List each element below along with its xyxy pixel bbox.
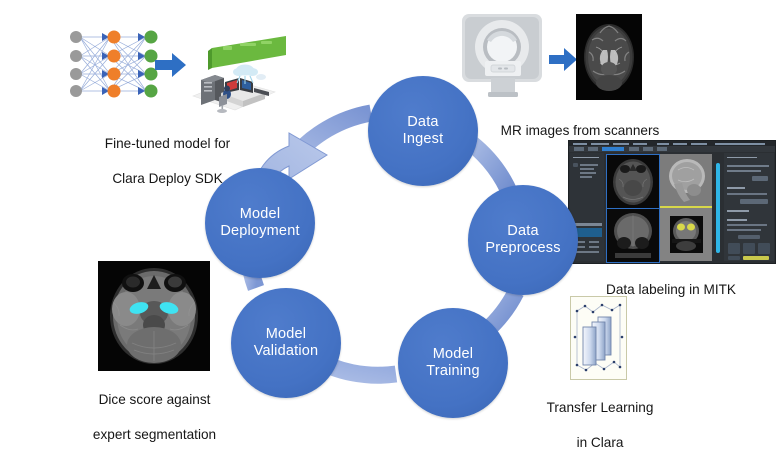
brain-slice-icon-mr bbox=[576, 14, 642, 100]
caption-line2: in Clara bbox=[577, 435, 624, 450]
neural-network-svg bbox=[66, 28, 166, 100]
cycle-node-data-ingest[interactable]: Data Ingest bbox=[368, 76, 478, 186]
cycle-node-label-line1: Data bbox=[507, 223, 538, 239]
stacked-layers-icon bbox=[570, 296, 627, 380]
cycle-node-label-line1: Data bbox=[407, 114, 438, 130]
mitk-viewport-3d[interactable] bbox=[660, 208, 712, 261]
callout-caption-transfer-learning: Transfer Learning in Clara bbox=[520, 382, 680, 452]
cycle-node-data-preprocess[interactable]: Data Preprocess bbox=[468, 185, 578, 295]
block-arrow-icon-to-server bbox=[155, 52, 187, 78]
brain-slice-icon-segmentation bbox=[98, 261, 210, 371]
cycle-node-label: Model Deployment bbox=[214, 206, 305, 240]
callout-caption-mr-images: MR images from scanners bbox=[480, 105, 680, 140]
cycle-node-label-line1: Model bbox=[433, 346, 474, 362]
mitk-application-screenshot[interactable] bbox=[568, 140, 776, 264]
mitk-viewport-coronal[interactable] bbox=[606, 208, 660, 263]
cycle-node-label-line1: Model bbox=[240, 206, 281, 222]
nn-input-nodes bbox=[70, 31, 82, 97]
mitk-toolbar[interactable] bbox=[569, 146, 775, 152]
cycle-node-model-validation[interactable]: Model Validation bbox=[231, 288, 341, 398]
mitk-crosshair-indicator bbox=[660, 206, 712, 208]
cycle-node-label-line2: Validation bbox=[254, 343, 319, 359]
neural-network-icon bbox=[66, 28, 166, 100]
cycle-node-label-line2: Training bbox=[426, 363, 479, 379]
cycle-node-label: Data Preprocess bbox=[479, 223, 566, 257]
mitk-viewport-axial[interactable] bbox=[606, 154, 660, 209]
cycle-node-label: Model Training bbox=[420, 346, 485, 380]
caption-line1: MR images from scanners bbox=[501, 123, 660, 138]
caption-line1: Dice score against bbox=[99, 392, 211, 407]
mitk-level-window-slider[interactable] bbox=[716, 163, 720, 253]
cycle-node-label-line2: Deployment bbox=[220, 223, 299, 239]
mitk-segmentation-panel[interactable] bbox=[724, 153, 774, 261]
callout-caption-dice-score: Dice score against expert segmentation bbox=[82, 374, 227, 444]
block-arrow-icon-to-brain bbox=[549, 47, 578, 72]
cycle-node-label-line2: Preprocess bbox=[485, 240, 560, 256]
cycle-node-label-line1: Model bbox=[266, 326, 307, 342]
cycle-node-label-line2: Ingest bbox=[403, 131, 444, 147]
cycle-node-model-deployment[interactable]: Model Deployment bbox=[205, 168, 315, 278]
callout-caption-data-labeling: Data labeling in MITK bbox=[572, 264, 770, 299]
cycle-node-model-training[interactable]: Model Training bbox=[398, 308, 508, 418]
cycle-node-label: Data Ingest bbox=[397, 114, 450, 148]
mitk-viewport-sagittal[interactable] bbox=[660, 154, 712, 207]
caption-line1: Fine-tuned model for bbox=[105, 136, 230, 151]
cycle-node-label: Model Validation bbox=[248, 326, 325, 360]
caption-line2: expert segmentation bbox=[93, 427, 216, 442]
diagram-canvas: Data Ingest Data Preprocess Model Traini… bbox=[0, 0, 780, 438]
caption-line1: Transfer Learning bbox=[547, 400, 654, 415]
caption-line2: Clara Deploy SDK bbox=[112, 171, 222, 186]
